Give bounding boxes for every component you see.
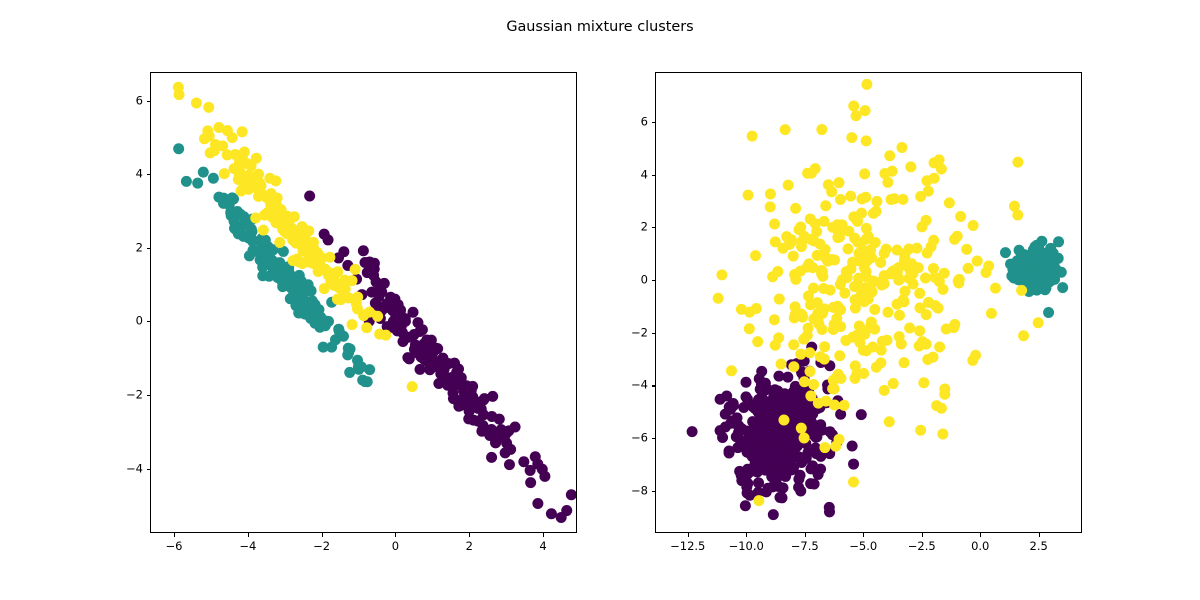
- y-tick-mark: [147, 395, 151, 396]
- y-tick-mark: [147, 469, 151, 470]
- y-tick-label: 6: [136, 95, 143, 107]
- x-tick-label: 2: [466, 541, 473, 553]
- y-tick-mark: [147, 248, 151, 249]
- y-tick-mark: [652, 280, 656, 281]
- figure-canvas: Gaussian mixture clusters Anisotropicall…: [0, 0, 1200, 600]
- y-tick-label: −2: [631, 327, 648, 339]
- x-tick-label: −4: [239, 541, 256, 553]
- y-tick-label: −6: [631, 432, 648, 444]
- x-tick-label: 0: [392, 541, 399, 553]
- x-tick-label: 2.5: [1030, 541, 1048, 553]
- y-tick-label: −8: [631, 485, 648, 497]
- y-tick-label: 2: [136, 242, 143, 254]
- y-tick-label: 0: [136, 316, 143, 328]
- x-tick-mark: [688, 533, 689, 537]
- x-tick-mark: [469, 533, 470, 537]
- x-tick-mark: [746, 533, 747, 537]
- y-tick-mark: [147, 321, 151, 322]
- x-tick-mark: [863, 533, 864, 537]
- y-tick-mark: [652, 227, 656, 228]
- x-tick-label: −6: [166, 541, 183, 553]
- figure-suptitle: Gaussian mixture clusters: [0, 20, 1200, 34]
- x-tick-mark: [922, 533, 923, 537]
- y-tick-label: −2: [126, 389, 143, 401]
- x-tick-mark: [322, 533, 323, 537]
- y-tick-label: −4: [631, 380, 648, 392]
- x-tick-label: −5.0: [849, 541, 877, 553]
- x-tick-label: −2.5: [908, 541, 936, 553]
- x-tick-label: −7.5: [791, 541, 819, 553]
- subplot-anisotropic-blobs: Anisotropically Distributed Blobs: [150, 72, 577, 533]
- scatter-points-right: [656, 73, 1082, 533]
- y-tick-mark: [652, 491, 656, 492]
- y-tick-mark: [147, 101, 151, 102]
- x-tick-mark: [543, 533, 544, 537]
- x-tick-mark: [980, 533, 981, 537]
- y-tick-mark: [147, 174, 151, 175]
- y-tick-label: 0: [641, 274, 648, 286]
- x-tick-label: 0.0: [971, 541, 989, 553]
- y-tick-label: −4: [126, 463, 143, 475]
- y-tick-mark: [652, 175, 656, 176]
- x-tick-mark: [1039, 533, 1040, 537]
- y-tick-mark: [652, 385, 656, 386]
- x-tick-label: −10.0: [729, 541, 764, 553]
- x-tick-mark: [805, 533, 806, 537]
- subplot-unequal-variance: Unequal Variance: [655, 72, 1082, 533]
- x-tick-label: −12.5: [670, 541, 705, 553]
- y-tick-label: 6: [641, 116, 648, 128]
- y-tick-label: 4: [641, 169, 648, 181]
- y-tick-mark: [652, 122, 656, 123]
- x-tick-mark: [174, 533, 175, 537]
- x-tick-mark: [395, 533, 396, 537]
- y-tick-mark: [652, 333, 656, 334]
- x-tick-label: −2: [313, 541, 330, 553]
- y-tick-label: 4: [136, 169, 143, 181]
- scatter-points-left: [151, 73, 577, 533]
- y-tick-label: 2: [641, 222, 648, 234]
- x-tick-label: 4: [539, 541, 546, 553]
- y-tick-mark: [652, 438, 656, 439]
- x-tick-mark: [248, 533, 249, 537]
